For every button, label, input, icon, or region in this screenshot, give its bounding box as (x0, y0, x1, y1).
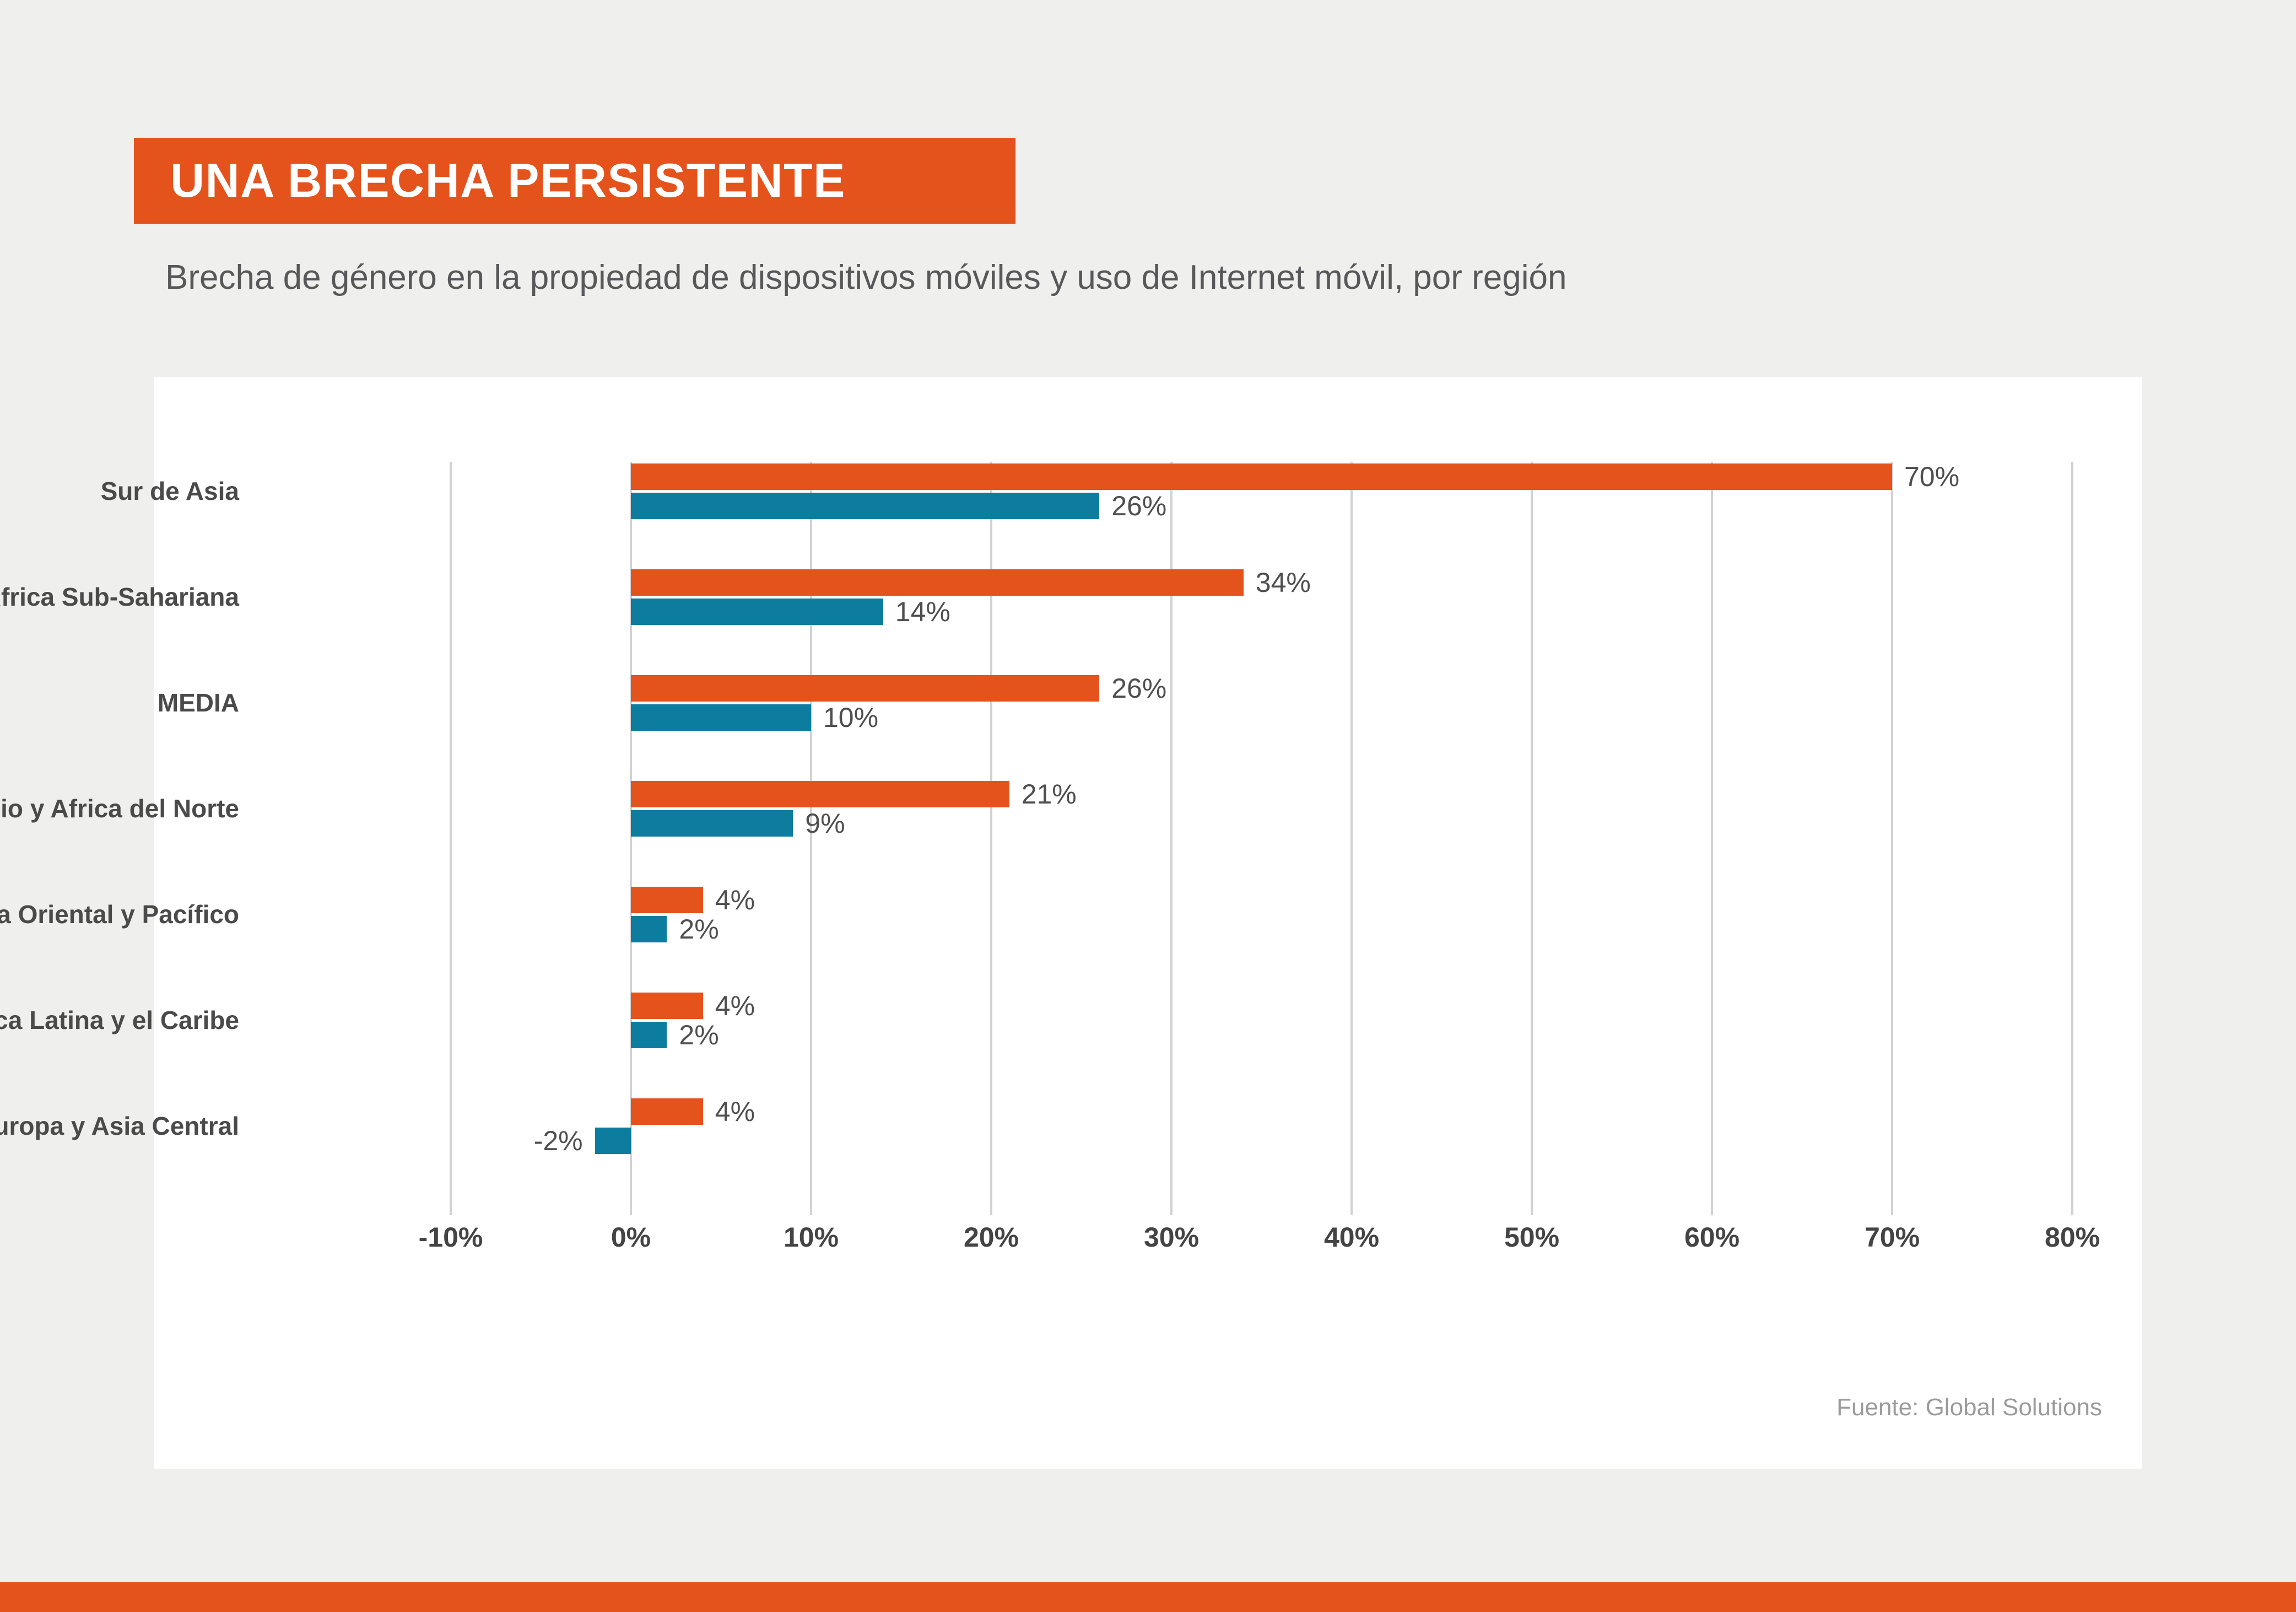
bar (631, 887, 703, 913)
gridline (1531, 462, 1533, 1215)
bar (631, 1022, 667, 1048)
title-banner: UNA BRECHA PERSISTENTE (134, 138, 1015, 224)
category-label: Europa y Asia Central (0, 1111, 239, 1141)
bar-value-label: 4% (715, 1096, 755, 1128)
gridline (2071, 462, 2073, 1215)
bar-value-label: 4% (715, 884, 755, 916)
plot-area: -10%0%10%20%30%40%50%60%70%80%Sur de Asi… (154, 377, 2142, 1469)
category-label: Africa Sub-Sahariana (0, 582, 239, 612)
gridline (450, 462, 452, 1215)
bar (631, 810, 793, 837)
category-label: América Latina y el Caribe (0, 1005, 239, 1035)
category-label: Oriente Medio y Africa del Norte (0, 794, 239, 823)
x-axis-tick-label: 30% (1144, 1221, 1199, 1253)
category-label: Sur de Asia (101, 476, 239, 506)
bar-value-label: 14% (895, 596, 950, 628)
x-axis-tick-label: 40% (1324, 1221, 1379, 1253)
category-label: MEDIA (158, 688, 239, 718)
x-axis-tick-label: 0% (611, 1221, 651, 1253)
bar-value-label: -2% (534, 1125, 583, 1157)
bar-value-label: 26% (1111, 490, 1166, 522)
bar (631, 493, 1099, 519)
bar (631, 704, 811, 731)
bar (631, 463, 1892, 490)
x-axis-tick-label: 70% (1865, 1221, 1920, 1253)
bar-value-label: 2% (679, 913, 718, 945)
chart-card: -10%0%10%20%30%40%50%60%70%80%Sur de Asi… (154, 377, 2142, 1469)
x-axis-tick-label: 80% (2045, 1221, 2100, 1253)
bar (631, 569, 1244, 596)
gridline (1711, 462, 1713, 1215)
source-note: Fuente: Global Solutions (1836, 1394, 2102, 1421)
bar-value-label: 70% (1904, 461, 1959, 493)
bar (595, 1128, 631, 1154)
category-label: Asia Oriental y Pacífico (0, 899, 239, 929)
bar (631, 916, 667, 942)
bar (631, 781, 1009, 807)
page-subtitle: Brecha de género en la propiedad de disp… (165, 259, 1566, 296)
bar-value-label: 9% (805, 807, 845, 839)
x-axis-tick-label: 60% (1684, 1221, 1739, 1253)
gridline (1350, 462, 1353, 1215)
x-axis-tick-label: 50% (1504, 1221, 1559, 1253)
x-axis-tick-label: 10% (784, 1221, 839, 1253)
gridline (1891, 462, 1893, 1215)
bar (631, 599, 883, 625)
page-title: UNA BRECHA PERSISTENTE (134, 157, 846, 204)
x-axis-tick-label: -10% (419, 1221, 483, 1253)
bar (631, 1098, 703, 1125)
bar (631, 675, 1099, 702)
bar-value-label: 2% (679, 1019, 718, 1051)
bar-value-label: 10% (823, 702, 878, 734)
bar-value-label: 4% (715, 990, 755, 1022)
bar (631, 993, 703, 1019)
x-axis-tick-label: 20% (964, 1221, 1019, 1253)
bottom-accent-strip (0, 1582, 2296, 1612)
bar-value-label: 26% (1111, 672, 1166, 704)
bar-value-label: 21% (1022, 778, 1077, 810)
bar-value-label: 34% (1256, 567, 1311, 599)
